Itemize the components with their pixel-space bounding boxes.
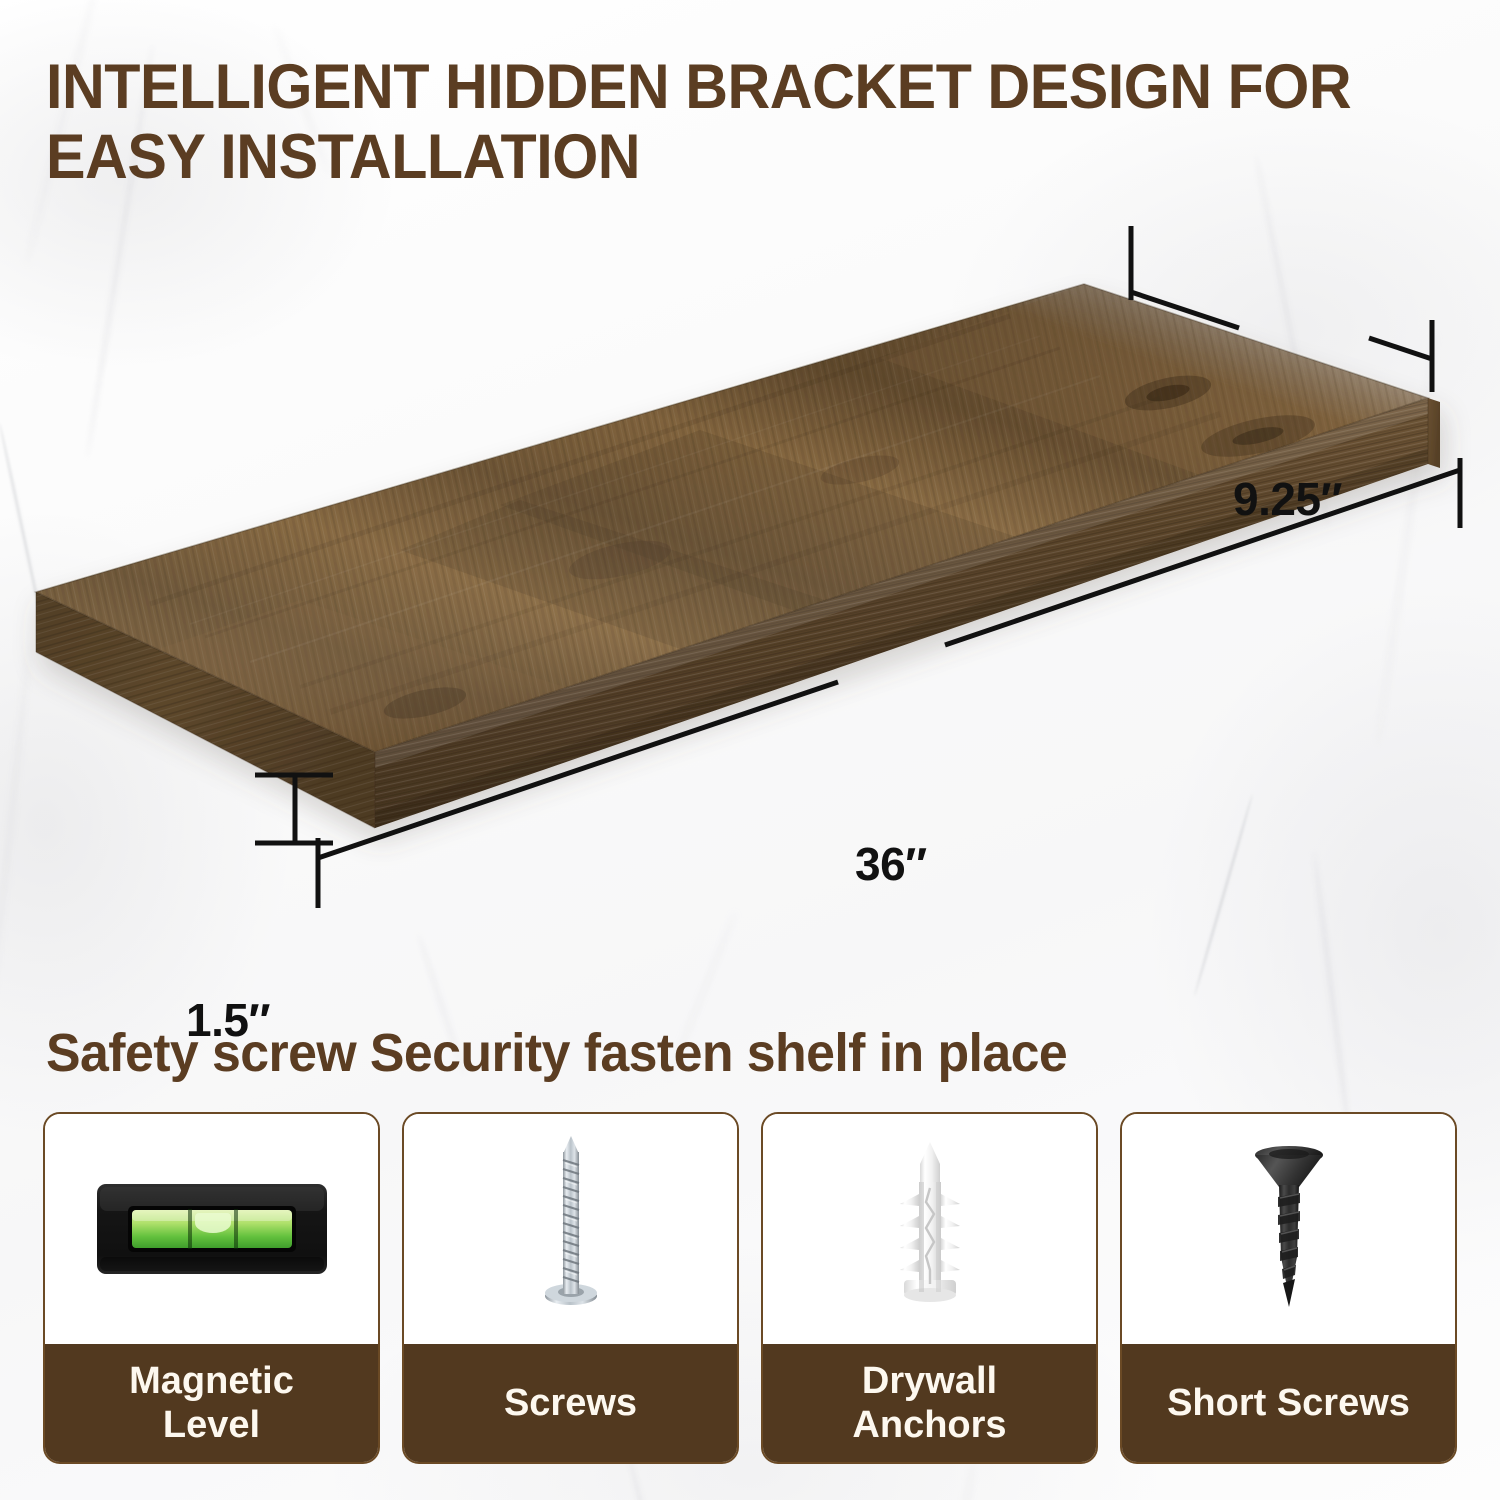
shelf-right-end-face — [1428, 398, 1440, 468]
card-artwork-area — [1122, 1114, 1455, 1344]
card-artwork-area — [404, 1114, 737, 1344]
shelf-3d-drawing — [0, 200, 1500, 920]
dimension-label-depth: 9.25″ — [1233, 472, 1342, 526]
card-artwork-area — [763, 1114, 1096, 1344]
shelf-body — [0, 240, 1500, 890]
card-label-magnetic-level: Magnetic Level — [45, 1344, 378, 1462]
accessory-card-magnetic-level[interactable]: Magnetic Level — [43, 1112, 380, 1464]
shelf-illustration: 9.25″ 36″ 1.5″ — [0, 200, 1500, 920]
section-subtitle: Safety screw Security fasten shelf in pl… — [46, 1022, 1390, 1084]
dimension-label-length: 36″ — [855, 837, 927, 891]
depth-leader-right — [1369, 338, 1432, 359]
short-screw-icon — [1235, 1141, 1343, 1317]
accessory-card-screws[interactable]: Screws — [402, 1112, 739, 1464]
accessory-card-short-screws[interactable]: Short Screws — [1120, 1112, 1457, 1464]
card-label-drywall-anchors: Drywall Anchors — [763, 1344, 1096, 1462]
card-label-screws: Screws — [404, 1344, 737, 1462]
card-artwork-area — [45, 1114, 378, 1344]
page-title: INTELLIGENT HIDDEN BRACKET DESIGN FOR EA… — [46, 52, 1381, 192]
accessory-card-drywall-anchors[interactable]: Drywall Anchors — [761, 1112, 1098, 1464]
card-label-short-screws: Short Screws — [1122, 1344, 1455, 1462]
long-screw-icon — [534, 1134, 608, 1324]
magnetic-level-icon — [96, 1183, 328, 1275]
drywall-anchor-icon — [882, 1138, 978, 1320]
infographic-canvas: INTELLIGENT HIDDEN BRACKET DESIGN FOR EA… — [0, 0, 1500, 1500]
accessory-card-row: Magnetic Level — [43, 1112, 1457, 1464]
